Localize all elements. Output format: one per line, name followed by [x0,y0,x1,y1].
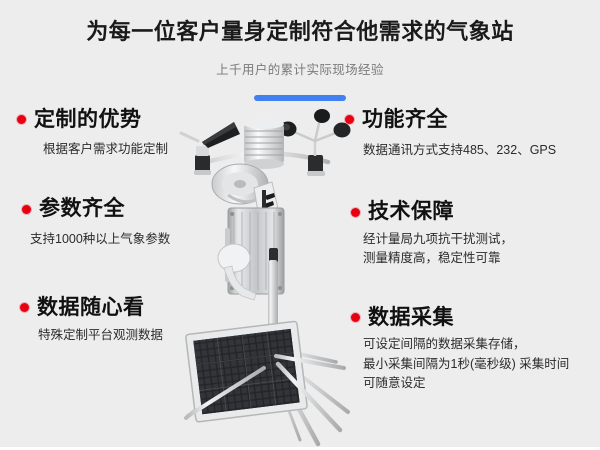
bullet-dot-icon [22,205,31,214]
bullet-dot-icon [20,303,29,312]
feature-heading: 功能齐全 [345,108,597,131]
feature-desc-line: 可随意设定 [363,374,597,393]
feature-title: 数据采集 [368,306,454,329]
feature-column-left: 定制的优势 根据客户需求功能定制 参数齐全 支持1000种以上气象参数 数据随心… [8,108,208,345]
feature-title: 技术保障 [368,200,454,223]
feature-item-data-viewing: 数据随心看 特殊定制平台观测数据 [20,296,208,345]
feature-heading: 定制的优势 [17,108,208,131]
feature-desc-line: 测量精度高，稳定性可靠 [363,249,597,268]
feature-item-data-acquisition: 数据采集 可设定间隔的数据采集存储， 最小采集间隔为1秒(毫秒级) 采集时间 可… [351,306,597,393]
feature-item-technical-assurance: 技术保障 经计量局九项抗干扰测试， 测量精度高，稳定性可靠 [351,200,597,268]
page-subtitle: 上千用户的累计实际现场经验 [0,59,600,78]
feature-desc-line: 经计量局九项抗干扰测试， [363,230,597,249]
poster-header: 为每一位客户量身定制符合他需求的气象站 上千用户的累计实际现场经验 [0,0,600,101]
feature-desc-line: 数据通讯方式支持485、232、GPS [363,141,597,160]
feature-description: 特殊定制平台观测数据 [38,326,208,345]
feature-title: 参数齐全 [39,197,125,220]
feature-item-custom-advantage: 定制的优势 根据客户需求功能定制 [17,108,208,159]
feature-description: 经计量局九项抗干扰测试， 测量精度高，稳定性可靠 [363,230,597,269]
bullet-dot-icon [351,208,360,217]
feature-description: 支持1000种以上气象参数 [30,230,208,249]
feature-heading: 数据随心看 [20,296,208,319]
feature-description: 数据通讯方式支持485、232、GPS [363,141,597,160]
bullet-dot-icon [17,115,26,124]
feature-heading: 数据采集 [351,306,597,329]
feature-title: 功能齐全 [362,108,448,131]
bullet-dot-icon [345,115,354,124]
radiation-shield-sensor [244,119,284,169]
feature-title: 定制的优势 [34,108,142,131]
anemometer-cup-sensor [280,109,351,176]
feature-heading: 参数齐全 [22,197,208,220]
feature-desc-line: 最小采集间隔为1秒(毫秒级) 采集时间 [363,355,597,374]
feature-heading: 技术保障 [351,200,597,223]
product-feature-poster: 为每一位客户量身定制符合他需求的气象站 上千用户的累计实际现场经验 [0,0,600,450]
page-title: 为每一位客户量身定制符合他需求的气象站 [0,19,600,45]
feature-desc-line: 根据客户需求功能定制 [43,140,208,159]
feature-description: 根据客户需求功能定制 [43,140,208,159]
feature-title: 数据随心看 [37,296,145,319]
feature-item-full-function: 功能齐全 数据通讯方式支持485、232、GPS [345,108,597,160]
feature-desc-line: 支持1000种以上气象参数 [30,230,208,249]
feature-description: 可设定间隔的数据采集存储， 最小采集间隔为1秒(毫秒级) 采集时间 可随意设定 [363,335,597,393]
feature-item-full-parameters: 参数齐全 支持1000种以上气象参数 [22,197,208,248]
feature-desc-line: 可设定间隔的数据采集存储， [363,335,597,354]
bullet-dot-icon [351,313,360,322]
feature-column-right: 功能齐全 数据通讯方式支持485、232、GPS 技术保障 经计量局九项抗干扰测… [345,108,597,394]
feature-desc-line: 特殊定制平台观测数据 [38,326,208,345]
